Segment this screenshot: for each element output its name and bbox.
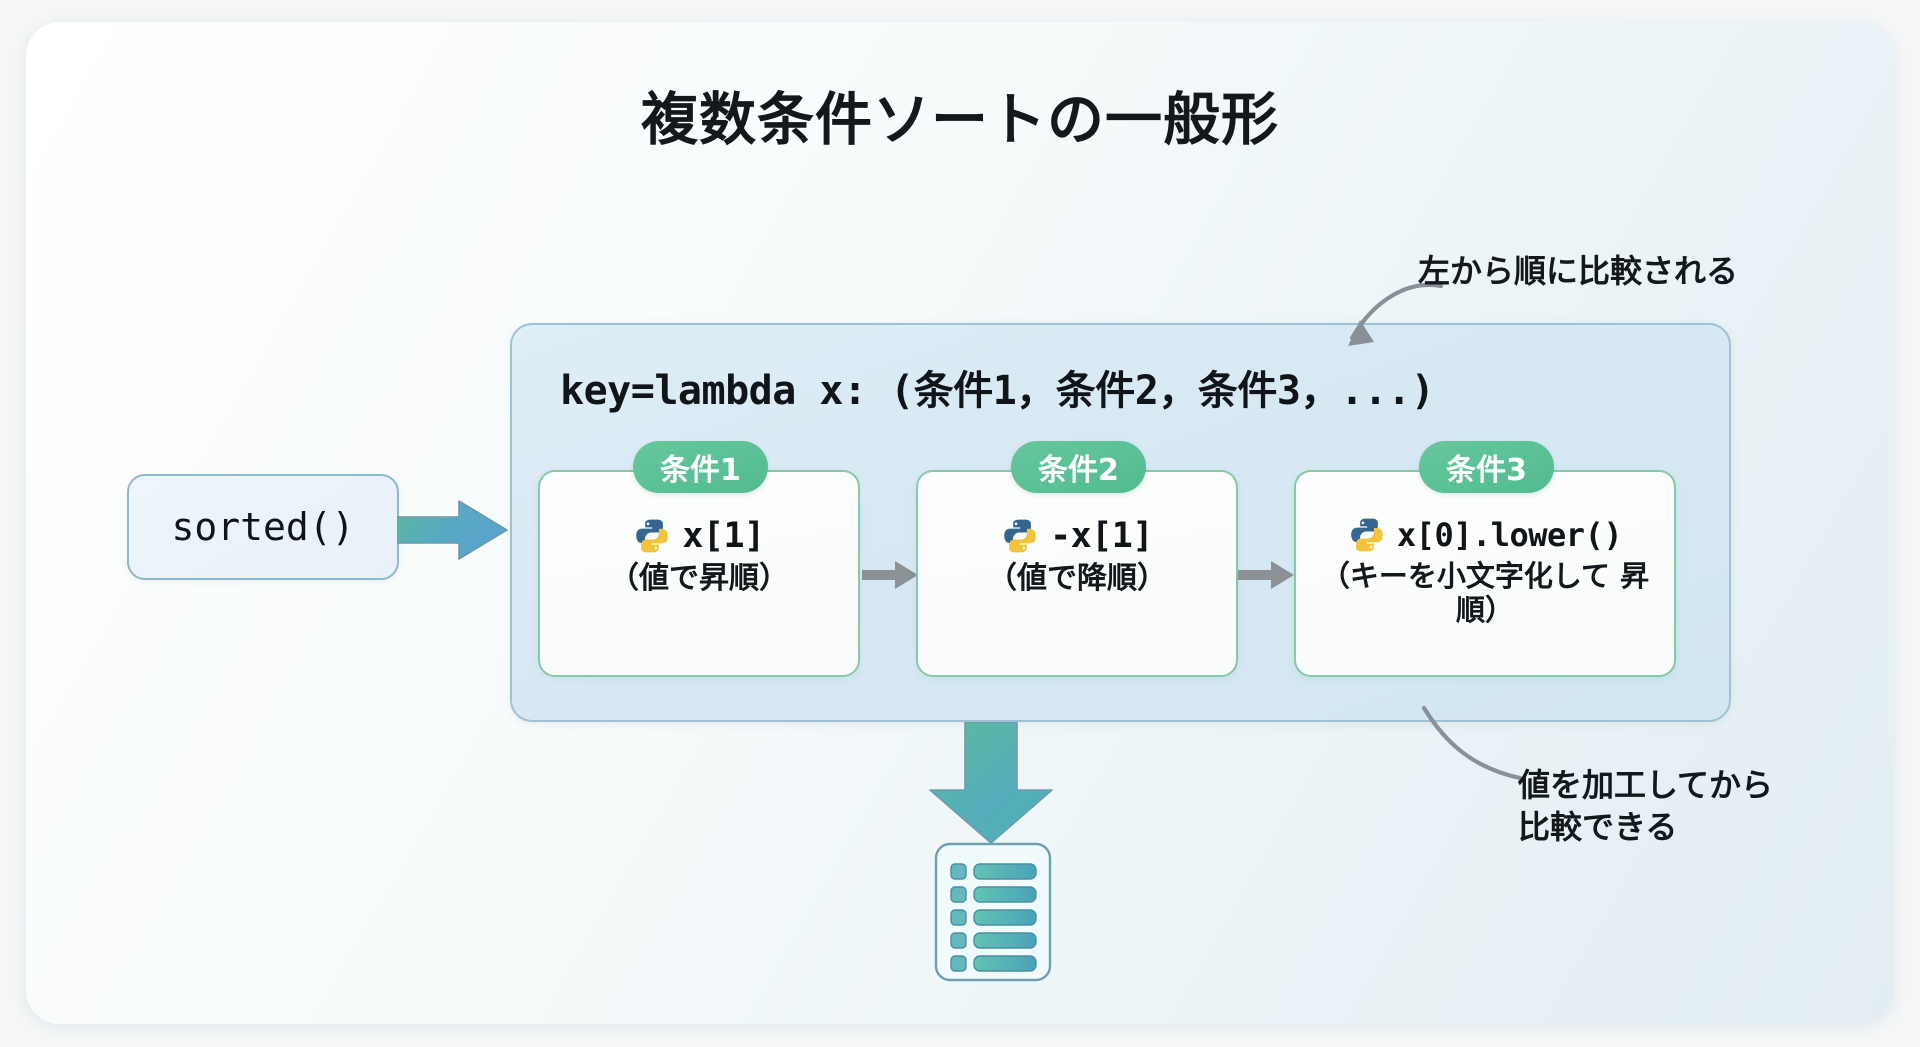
sorted-list-icon <box>934 842 1052 982</box>
python-icon <box>1348 516 1386 554</box>
flow-arrow-down-icon <box>927 722 1055 845</box>
condition-code-2: -x[1] <box>1050 516 1153 556</box>
condition-codeline-2: -x[1] <box>928 516 1226 556</box>
python-icon <box>1001 517 1039 555</box>
condition-card-2[interactable]: 条件2 -x[1] （値で降順） <box>916 470 1238 677</box>
python-icon <box>633 517 671 555</box>
callout-bottom-text: 値を加工してから 比較できる <box>1518 764 1773 848</box>
flow-arrow-small-2-icon <box>1238 560 1295 590</box>
condition-code-1: x[1] <box>682 516 764 556</box>
lambda-code-text: key=lambda x: (条件1，条件2，条件3，...) <box>560 358 1434 416</box>
diagram-canvas: 複数条件ソートの一般形 sorted() key=lambda x: (条件1，… <box>0 0 1920 1047</box>
page-title: 複数条件ソートの一般形 <box>26 74 1894 156</box>
condition-note-1: （値で昇順） <box>550 561 848 596</box>
flow-arrow-small-1-icon <box>862 560 919 590</box>
condition-body-1: x[1] （値で昇順） <box>540 516 858 596</box>
condition-note-3: （キーを小文字化して 昇順） <box>1306 559 1664 627</box>
condition-card-3[interactable]: 条件3 x[0].lower() （キーを小文字化して 昇順） <box>1294 470 1676 677</box>
condition-card-1[interactable]: 条件1 x[1] （値で昇順） <box>538 470 860 677</box>
condition-badge-3: 条件3 <box>1419 441 1554 493</box>
condition-body-3: x[0].lower() （キーを小文字化して 昇順） <box>1296 516 1674 627</box>
callout-top-text: 左から順に比較される <box>1418 250 1738 292</box>
condition-note-2: （値で降順） <box>928 561 1226 596</box>
condition-body-2: -x[1] （値で降順） <box>918 516 1236 596</box>
condition-badge-2: 条件2 <box>1011 441 1146 493</box>
condition-badge-1: 条件1 <box>633 441 768 493</box>
condition-codeline-1: x[1] <box>550 516 848 556</box>
flow-arrow-right-icon <box>397 499 510 561</box>
sorted-function-node[interactable]: sorted() <box>127 474 399 580</box>
slide-card: 複数条件ソートの一般形 sorted() key=lambda x: (条件1，… <box>26 22 1894 1024</box>
condition-codeline-3: x[0].lower() <box>1306 516 1664 554</box>
condition-code-3: x[0].lower() <box>1397 516 1622 554</box>
sorted-function-label: sorted() <box>171 505 354 549</box>
